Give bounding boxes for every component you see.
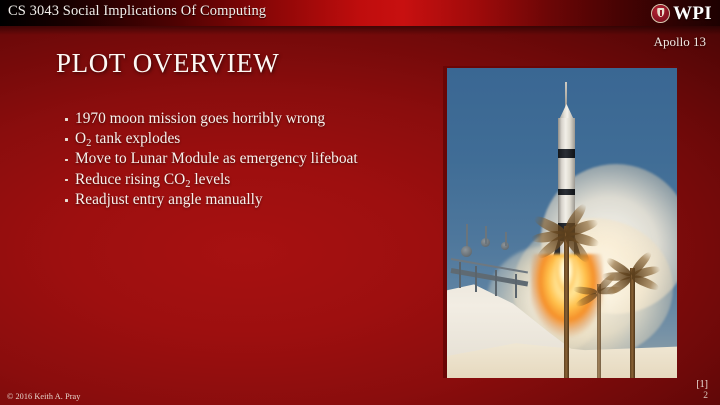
- antenna-dish: [461, 246, 472, 257]
- wpi-seal-icon: [651, 4, 670, 23]
- header-shadow: [0, 26, 720, 35]
- page-number: 2: [703, 391, 708, 401]
- bullet-list: 1970 moon mission goes horribly wrong O2…: [64, 109, 436, 210]
- light-pole: [485, 226, 487, 244]
- wpi-wordmark: WPI: [673, 4, 712, 23]
- rocket-launch-photo: [443, 66, 677, 378]
- copyright-notice: © 2016 Keith A. Pray: [7, 392, 81, 401]
- gantry-post: [495, 270, 497, 296]
- gantry-post: [515, 274, 517, 298]
- bullet-subscript: 2: [185, 179, 190, 190]
- bullet-text: O: [75, 130, 86, 147]
- palm-trunk: [597, 284, 601, 378]
- palm-trunk: [630, 268, 635, 378]
- bullet-text: Move to Lunar Module as emergency lifebo…: [75, 150, 358, 167]
- photo-inner: [447, 68, 677, 378]
- light-pole: [466, 224, 468, 246]
- bullet-suffix: tank explodes: [91, 130, 180, 147]
- list-item: 1970 moon mission goes horribly wrong: [64, 109, 436, 129]
- wpi-logo: WPI: [651, 2, 712, 24]
- course-title: CS 3043 Social Implications Of Computing: [8, 3, 266, 20]
- launch-gantry: [451, 240, 529, 308]
- list-item: Readjust entry angle manually: [64, 190, 436, 210]
- bullet-text: Readjust entry angle manually: [75, 191, 263, 208]
- gantry-post: [475, 266, 477, 292]
- bullet-text: 1970 moon mission goes horribly wrong: [75, 110, 325, 127]
- rocket-stage-band-1: [558, 149, 575, 158]
- list-item: Reduce rising CO2 levels: [64, 170, 436, 190]
- palm-trunk: [564, 226, 569, 378]
- light-pole: [505, 232, 507, 246]
- bullet-suffix: levels: [191, 171, 231, 188]
- bullet-text: Reduce rising CO: [75, 171, 185, 188]
- bullet-subscript: 2: [86, 138, 91, 149]
- rocket-stage-band-2: [558, 189, 575, 195]
- list-item: O2 tank explodes: [64, 129, 436, 149]
- slide-subtitle: Apollo 13: [654, 34, 706, 50]
- gantry-post: [459, 262, 461, 288]
- slide: CS 3043 Social Implications Of Computing…: [0, 0, 720, 405]
- rocket-escape-tower: [565, 82, 567, 108]
- list-item: Move to Lunar Module as emergency lifebo…: [64, 149, 436, 169]
- page-title: PLOT OVERVIEW: [56, 48, 279, 79]
- image-citation: [1]: [696, 379, 708, 390]
